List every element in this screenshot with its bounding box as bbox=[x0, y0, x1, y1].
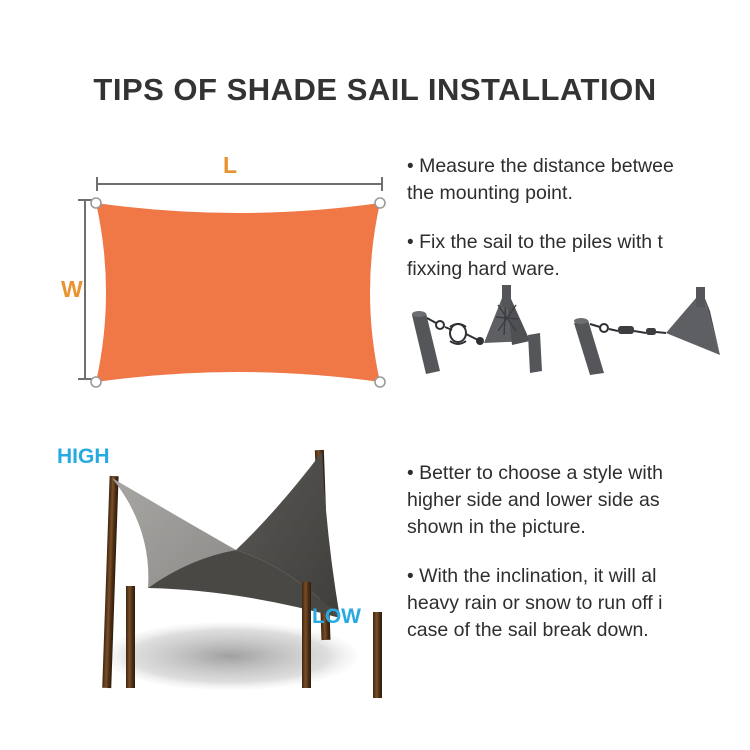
width-dimension-line bbox=[84, 199, 86, 380]
tip-item: • Better to choose a style with higher s… bbox=[407, 460, 750, 541]
hardware-illustration-pole-and-sail-edge bbox=[560, 283, 745, 375]
length-label: L bbox=[223, 152, 237, 179]
page-title: TIPS OF SHADE SAIL INSTALLATION bbox=[0, 72, 750, 108]
bullet-dot: • bbox=[407, 156, 414, 177]
tip-item: • With the inclination, it will al heavy… bbox=[407, 563, 750, 644]
tip-line: Measure the distance betwee bbox=[419, 155, 674, 177]
tips-bottom-list: • Better to choose a style with higher s… bbox=[407, 460, 750, 644]
bullet-dot: • bbox=[407, 566, 414, 587]
tip-line: heavy rain or snow to run off i bbox=[407, 592, 662, 614]
tip-line: fixxing hard ware. bbox=[407, 258, 560, 280]
turnbuckle-hardware-icon bbox=[590, 324, 666, 335]
turnbuckle-hardware-icon bbox=[427, 318, 478, 344]
tip-line: Better to choose a style with bbox=[419, 462, 663, 484]
hardware-illustration-pole-and-sail-corner bbox=[400, 283, 575, 375]
ground-shadow bbox=[102, 622, 358, 690]
tip-line: Fix the sail to the piles with t bbox=[419, 231, 663, 253]
sail-edge-panel bbox=[666, 291, 720, 355]
tip-line: higher side and lower side as bbox=[407, 489, 660, 511]
infographic-page: TIPS OF SHADE SAIL INSTALLATION L W • Me… bbox=[0, 0, 750, 750]
post-low-right bbox=[373, 612, 382, 698]
tip-line: With the inclination, it will al bbox=[419, 565, 656, 587]
post-icon bbox=[528, 333, 542, 373]
post-icon bbox=[502, 285, 511, 307]
low-label: LOW bbox=[312, 605, 361, 629]
length-dimension-line bbox=[96, 183, 383, 185]
tip-item: • Fix the sail to the piles with t fixxi… bbox=[407, 229, 750, 283]
sail-dimension-diagram: L W bbox=[58, 150, 398, 400]
ring-icon bbox=[476, 337, 484, 345]
width-label: W bbox=[61, 276, 83, 303]
orange-shade-sail-shape bbox=[88, 195, 388, 390]
bullet-dot: • bbox=[407, 232, 414, 253]
canopy-style-diagram: HIGH LOW bbox=[40, 440, 420, 710]
tip-line: shown in the picture. bbox=[407, 516, 586, 538]
high-label: HIGH bbox=[57, 445, 110, 469]
tip-item: • Measure the distance betwee the mounti… bbox=[407, 153, 750, 207]
mounting-pole-icon bbox=[412, 311, 440, 374]
bullet-dot: • bbox=[407, 463, 414, 484]
post-low-mid bbox=[302, 582, 311, 688]
post-low-left bbox=[126, 586, 135, 688]
tip-line: the mounting point. bbox=[407, 182, 573, 204]
post-icon bbox=[696, 287, 705, 307]
canopy-illustration bbox=[40, 440, 420, 710]
tips-top-list: • Measure the distance betwee the mounti… bbox=[407, 153, 750, 283]
tip-line: case of the sail break down. bbox=[407, 619, 649, 641]
